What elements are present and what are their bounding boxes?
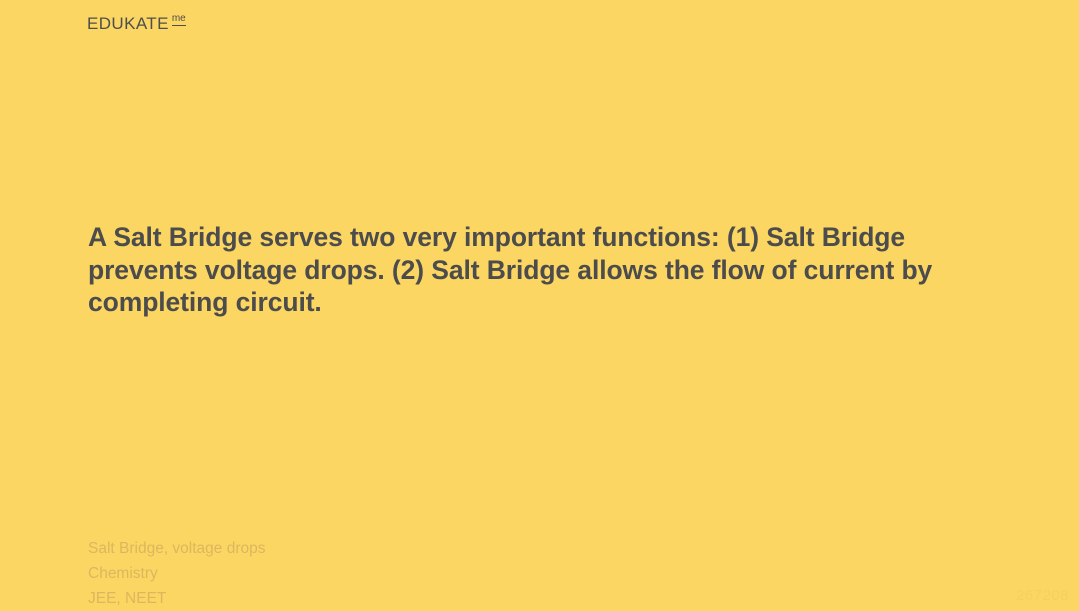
headline-text: A Salt Bridge serves two very important … [88, 221, 988, 319]
meta-keywords: Salt Bridge, voltage drops [88, 536, 266, 561]
brand-superscript: me [172, 14, 186, 26]
slide-metadata: Salt Bridge, voltage drops Chemistry JEE… [88, 536, 266, 611]
brand-logo[interactable]: EDUKATE me [87, 15, 186, 32]
brand-name: EDUKATE [87, 15, 169, 32]
slide-canvas: EDUKATE me A Salt Bridge serves two very… [0, 0, 1079, 607]
meta-subject: Chemistry [88, 561, 266, 586]
meta-exams: JEE, NEET [88, 586, 266, 611]
slide-id-watermark: 267208 [1016, 587, 1069, 604]
